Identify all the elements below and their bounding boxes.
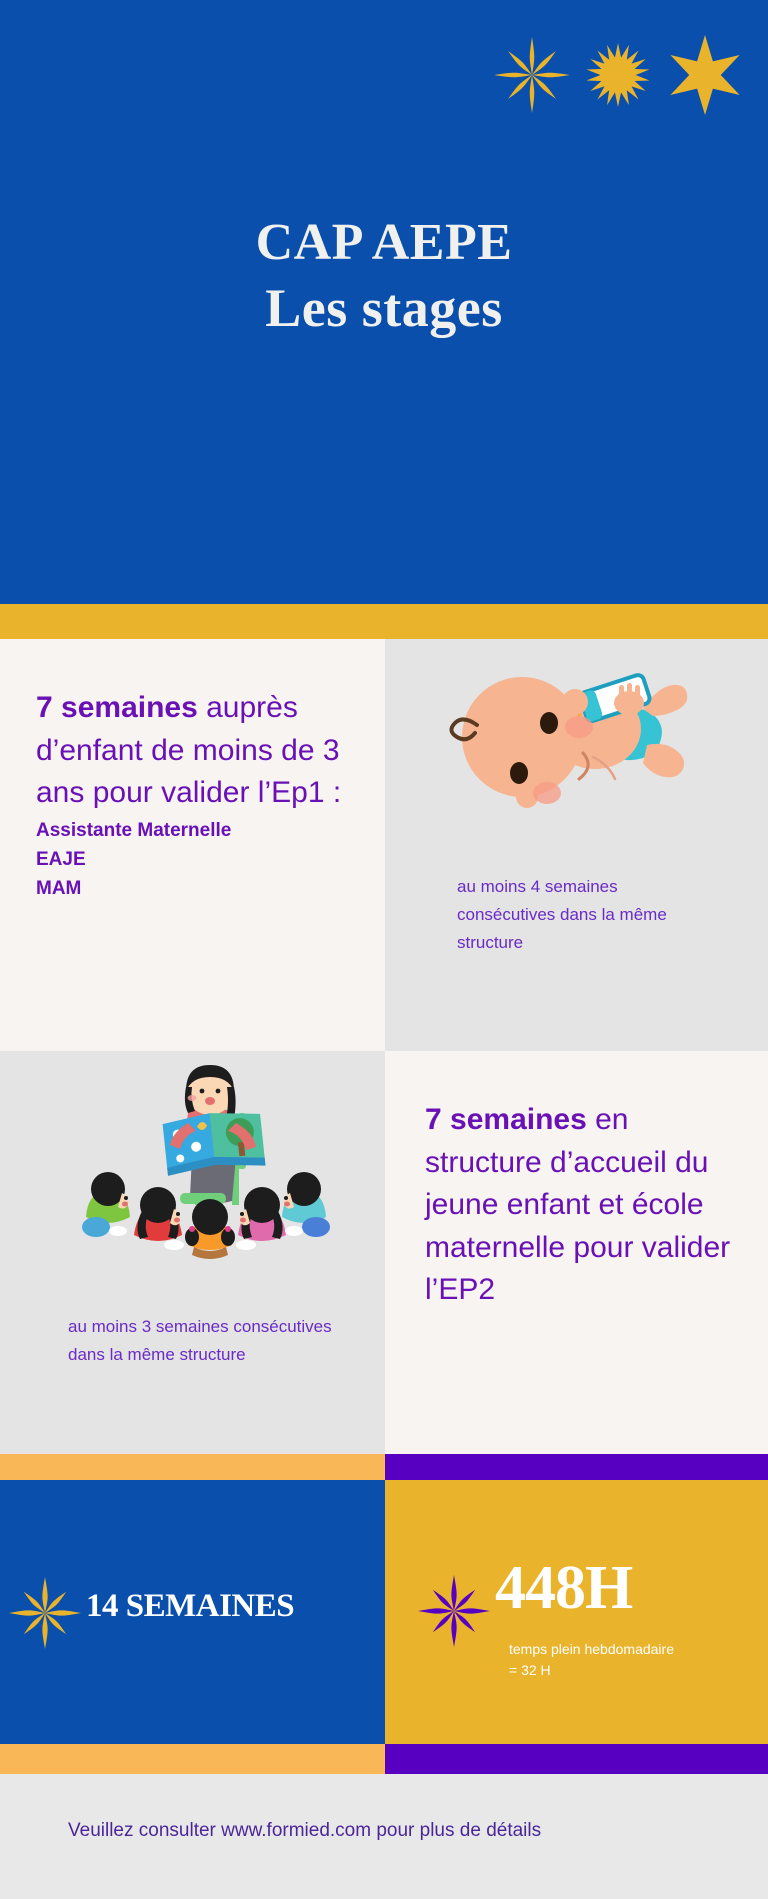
six-point-star-icon (666, 35, 744, 115)
row2-caption: au moins 3 semaines consécutives dans la… (68, 1313, 338, 1369)
eight-point-star-icon (8, 1576, 82, 1650)
content-row-2: au moins 3 semaines consécutives dans la… (0, 1051, 768, 1454)
list-item: MAM (36, 875, 357, 904)
stat-hours-subline-2: = 32 H (509, 1660, 759, 1681)
stat-weeks-label: 14 SEMAINES (86, 1588, 294, 1625)
row1-structure-list: Assistante Maternelle EAJE MAM (36, 817, 357, 904)
accent-band-orange-lower (0, 1744, 385, 1774)
infographic-poster: CAP AEPE Les stages 7 semaines auprès d’… (0, 0, 768, 1899)
row1-image-cell: au moins 4 semaines consécutives dans la… (385, 639, 768, 1051)
stat-hours-subline-1: temps plein hebdomadaire (509, 1639, 759, 1660)
eight-point-star-icon (490, 30, 580, 120)
stat-card-weeks: 14 SEMAINES (0, 1480, 385, 1744)
eight-point-star-icon (417, 1574, 491, 1648)
row1-paragraph: 7 semaines auprès d’enfant de moins de 3… (36, 687, 357, 815)
accent-band-orange-upper (0, 1454, 385, 1480)
header-bottom-yellow-band (0, 604, 768, 639)
page-title: CAP AEPE Les stages (0, 210, 768, 343)
title-line-2: Les stages (0, 275, 768, 343)
row1-text-cell: 7 semaines auprès d’enfant de moins de 3… (0, 639, 385, 1051)
row2-image-cell: au moins 3 semaines consécutives dans la… (0, 1051, 385, 1454)
stat-hours-subtext: temps plein hebdomadaire = 32 H (509, 1639, 759, 1681)
footer: Veuillez consulter www.formied.com pour … (0, 1774, 768, 1899)
accent-band-purple-upper (385, 1454, 768, 1480)
list-item: EAJE (36, 846, 357, 875)
sunburst-star-icon (586, 43, 650, 107)
row1-highlight: 7 semaines (36, 691, 198, 724)
accent-band-purple-lower (385, 1744, 768, 1774)
content-row-1: 7 semaines auprès d’enfant de moins de 3… (0, 639, 768, 1051)
header-star-decorations (490, 30, 750, 120)
list-item: Assistante Maternelle (36, 817, 357, 846)
row2-text-cell: 7 semaines en structure d’accueil du jeu… (385, 1051, 768, 1454)
header-banner: CAP AEPE Les stages (0, 0, 768, 604)
row1-caption: au moins 4 semaines consécutives dans la… (457, 873, 717, 957)
title-line-1: CAP AEPE (0, 210, 768, 275)
footer-text: Veuillez consulter www.formied.com pour … (68, 1816, 696, 1845)
stat-hours-value: 448H (495, 1553, 632, 1624)
stat-card-hours: 448H temps plein hebdomadaire = 32 H (385, 1480, 768, 1744)
teacher-reading-to-children-illustration (52, 1065, 342, 1290)
row2-paragraph: 7 semaines en structure d’accueil du jeu… (425, 1099, 744, 1312)
row2-highlight: 7 semaines (425, 1103, 587, 1136)
baby-with-bottle-illustration (407, 657, 697, 832)
